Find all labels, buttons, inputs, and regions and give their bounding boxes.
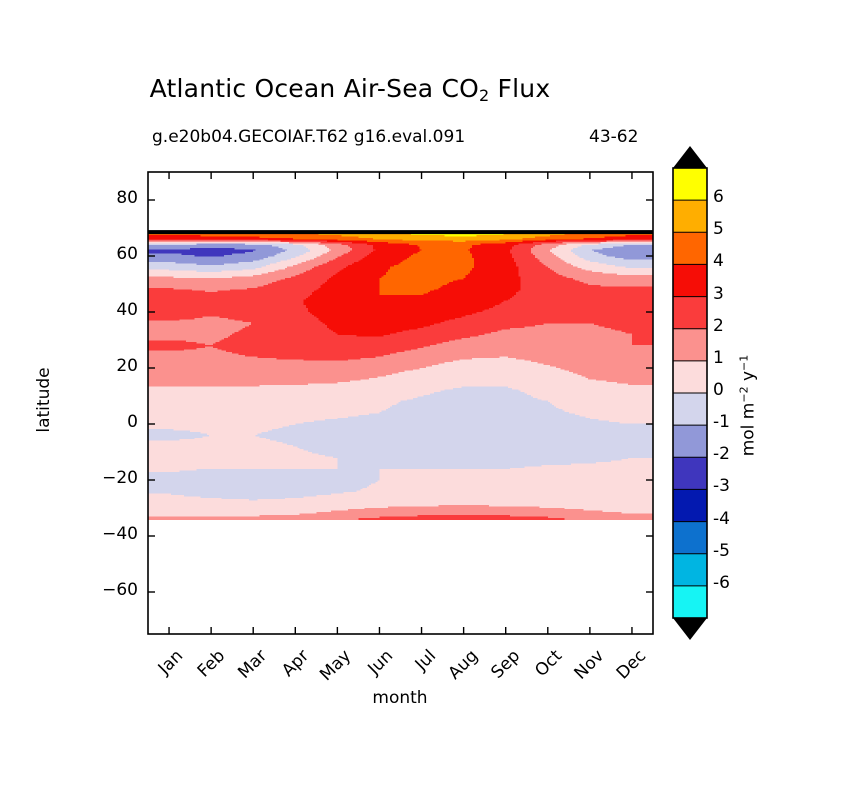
year-range-label: 43-62 [589,127,638,147]
colorbar-tick-label: -3 [713,476,730,496]
y-axis-tick-label: 40 [78,300,138,320]
chart-title-main: Atlantic Ocean Air-Sea CO [150,74,479,103]
chart-title-tail: Flux [489,74,550,103]
y-axis-tick-label: 0 [78,412,138,432]
colorbar-tick-label: 5 [713,219,724,239]
figure-canvas: Atlantic Ocean Air-Sea CO2 Flux g.e20b04… [0,0,841,788]
y-axis-tick-label: −60 [78,580,138,600]
contour-fill-group [148,230,654,520]
colorbar-tick-label: -6 [713,573,730,593]
case-name-label: g.e20b04.GECOIAF.T62 g16.eval.091 [152,127,465,147]
colorbar [673,146,707,640]
colorbar-tick-label: 0 [713,380,724,400]
colorbar-tick-label: -2 [713,444,730,464]
colorbar-tick-label: 2 [713,316,724,336]
colorbar-tick-label: -1 [713,412,730,432]
colorbar-over-arrow [673,146,707,168]
colorbar-tick-label: 6 [713,187,724,207]
y-axis-tick-label: 20 [78,356,138,376]
y-axis-tick-label: 60 [78,244,138,264]
chart-title: Atlantic Ocean Air-Sea CO2 Flux [0,74,700,105]
colorbar-under-arrow [673,618,707,640]
colorbar-tick-label: 3 [713,284,724,304]
colorbar-units-label: mol m−2 y−1 [738,346,759,466]
colorbar-tick-label: 1 [713,348,724,368]
y-axis-tick-label: 80 [78,188,138,208]
colorbar-tick-label: -5 [713,541,730,561]
y-axis-tick-label: −20 [78,468,138,488]
colorbar-tick-label: 4 [713,251,724,271]
y-axis-tick-label: −40 [78,524,138,544]
y-axis-label: latitude [34,340,54,460]
colorbar-tick-label: -4 [713,509,730,529]
chart-title-subscript: 2 [479,86,489,105]
